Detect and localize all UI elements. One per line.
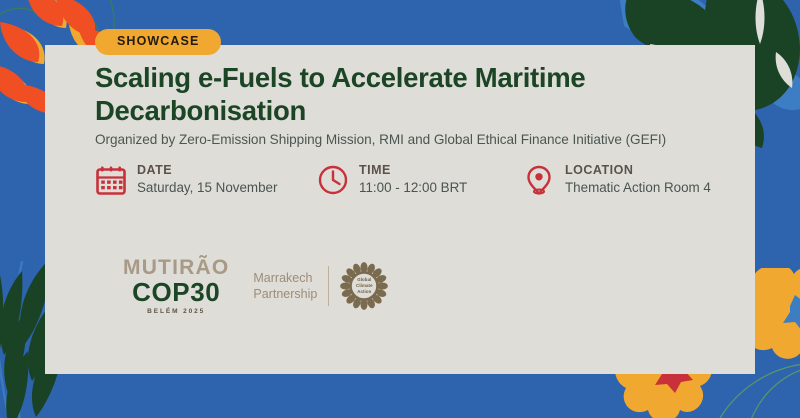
organizer-text: Organized by Zero-Emission Shipping Miss… [95, 132, 666, 147]
detail-label: LOCATION [565, 163, 711, 179]
poster-content: SHOWCASE Scaling e-Fuels to Accelerate M… [95, 0, 755, 329]
detail-date: DATE Saturday, 15 November [95, 163, 277, 196]
detail-time: TIME 11:00 - 12:00 BRT [317, 163, 467, 196]
cop30-wordmark: COP30 [132, 279, 220, 305]
detail-label: TIME [359, 163, 467, 179]
location-pin-icon [523, 164, 555, 196]
global-climate-action-logo: Global Climate Action [340, 262, 388, 310]
belem-2025-label: BELÉM 2025 [147, 309, 205, 316]
page-title: Scaling e-Fuels to Accelerate Maritime D… [95, 62, 695, 127]
event-poster: SHOWCASE Scaling e-Fuels to Accelerate M… [0, 0, 800, 418]
detail-value: 11:00 - 12:00 BRT [359, 179, 467, 196]
event-details-row: DATE Saturday, 15 November TIME 11:00 - … [95, 163, 755, 213]
title-line-1: Scaling e-Fuels to Accelerate Maritime [95, 62, 585, 93]
marrakech-partnership-logo: Marrakech Partnership [253, 270, 317, 302]
gca-line-3: Action [341, 289, 387, 295]
clock-icon [317, 164, 349, 196]
mutirao-cop30-logo: MUTIRÃO COP30 BELÉM 2025 [123, 257, 229, 316]
gca-label: Global Climate Action [341, 277, 387, 295]
detail-value: Thematic Action Room 4 [565, 179, 711, 196]
title-line-2: Decarbonisation [95, 95, 306, 126]
detail-label: DATE [137, 163, 277, 179]
logo-row: MUTIRÃO COP30 BELÉM 2025 Marrakech Partn… [123, 255, 388, 317]
detail-location: LOCATION Thematic Action Room 4 [523, 163, 711, 196]
calendar-icon [95, 164, 127, 196]
logo-divider [328, 266, 329, 306]
mutirao-wordmark: MUTIRÃO [123, 257, 229, 278]
marrakech-line-1: Marrakech [253, 270, 317, 286]
detail-value: Saturday, 15 November [137, 179, 277, 196]
marrakech-line-2: Partnership [253, 286, 317, 302]
showcase-badge: SHOWCASE [95, 29, 221, 55]
